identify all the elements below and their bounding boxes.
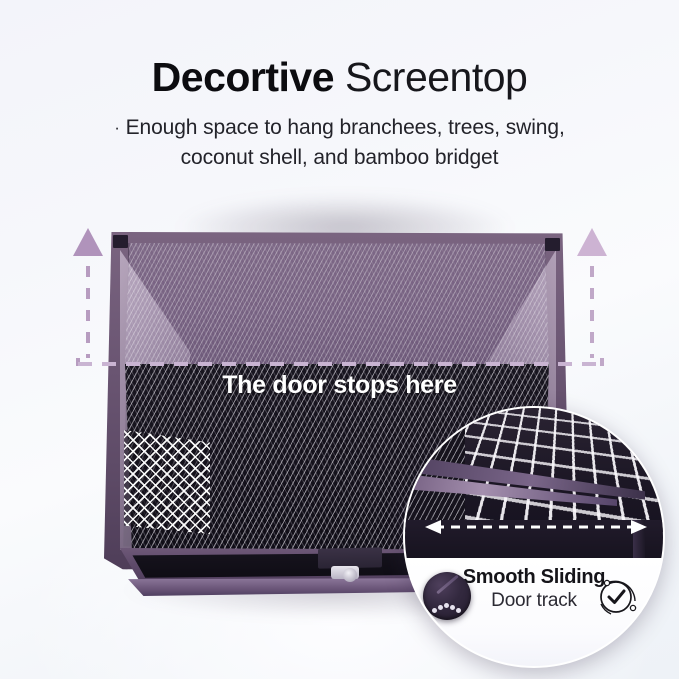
product-marketing-image: Decortive Screentop · Enough space to ha… (0, 0, 679, 679)
inset-callout: Smooth Sliding Door track (403, 406, 665, 668)
corner-bracket-top-left (113, 235, 128, 248)
door-roller-knob-icon (423, 572, 471, 620)
knob-slot (436, 575, 459, 595)
knob-dots (432, 603, 462, 613)
inset-photo (405, 408, 663, 532)
latch-pin (343, 568, 357, 582)
check-circle-icon (591, 570, 643, 622)
inset-arrow-wrap (405, 516, 663, 538)
door-stop-label: The door stops here (0, 371, 679, 400)
corner-bracket-top-right (545, 238, 560, 251)
diamond-mesh-left (124, 430, 210, 534)
double-headed-arrow-icon (405, 516, 663, 538)
